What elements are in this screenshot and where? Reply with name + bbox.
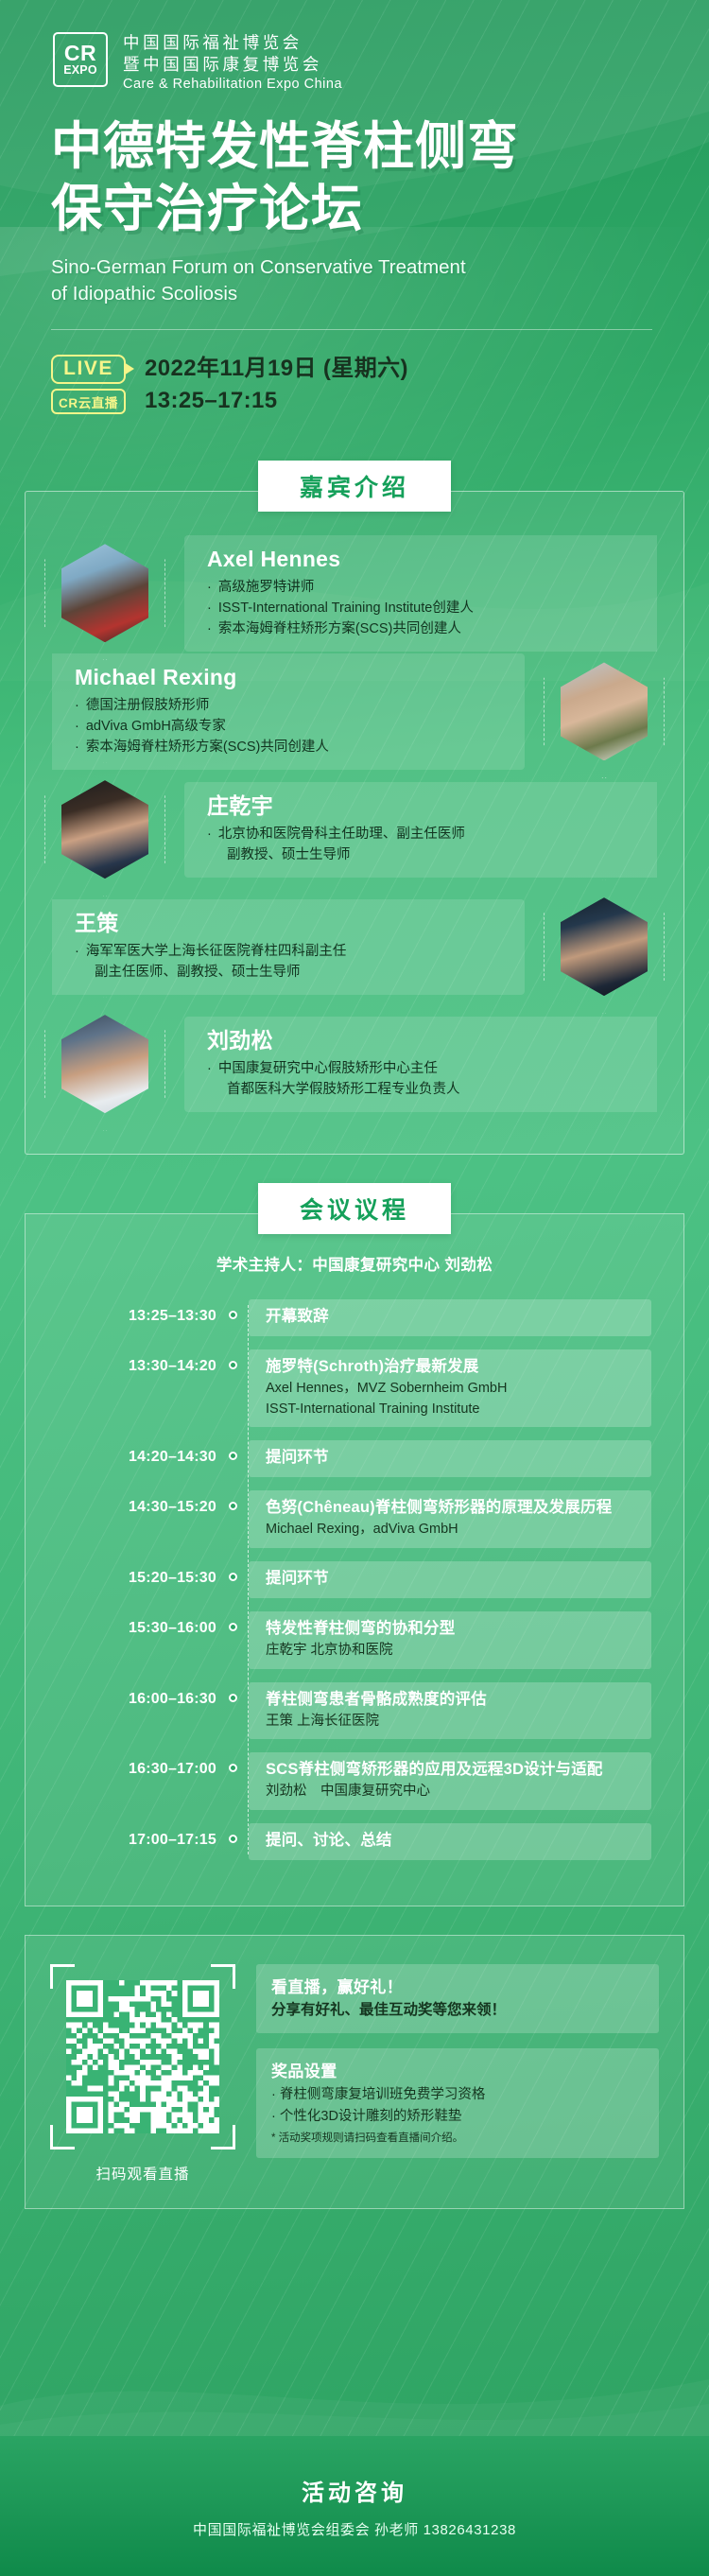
bullet-dot-icon: · [75, 737, 79, 757]
subtitle-line-2: of Idiopathic Scoliosis [51, 281, 580, 307]
bullet-dot-icon: · [207, 1058, 212, 1079]
agenda-session-speaker: Axel Hennes，MVZ Sobernheim GmbH [266, 1379, 638, 1400]
guest-photo-hex [26, 1015, 184, 1113]
guest-credential: ·adViva GmbH高级专家 [75, 716, 510, 737]
guest-info: Axel Hennes·高级施罗特讲师·ISST-International T… [184, 535, 657, 652]
agenda-session-title: 特发性脊柱侧弯的协和分型 [266, 1618, 638, 1641]
live-icon: LIVE [51, 355, 126, 384]
guest-credential: ·索本海姆脊柱矫形方案(SCS)共同创建人 [75, 737, 510, 757]
timeline-node-icon [216, 1682, 249, 1702]
agenda-time: 16:00–16:30 [58, 1682, 216, 1708]
agenda-session-speaker: 刘劲松 中国康复研究中心 [266, 1782, 638, 1802]
guest-credential: ·北京协和医院骨科主任助理、副主任医师 [207, 824, 642, 844]
timeline-node-icon [216, 1561, 249, 1581]
logo-cr-text: CR [64, 43, 96, 63]
qr-promo-panel: 扫码观看直播 看直播，赢好礼！ 分享有好礼、最佳互动奖等您来领！ 奖品设置 · … [25, 1935, 684, 2209]
bullet-dot-icon: · [75, 941, 79, 962]
agenda-session-title: 脊柱侧弯患者骨骼成熟度的评估 [266, 1689, 638, 1712]
live-badge: LIVE CR云直播 [51, 355, 126, 414]
guest-card: 刘劲松·中国康复研究中心假肢矫形中心主任首都医科大学假肢矫形工程专业负责人 [26, 1006, 683, 1122]
agenda-session-card: 脊柱侧弯患者骨骼成熟度的评估王策 上海长征医院 [249, 1682, 651, 1740]
footer-bar: 活动咨询 中国国际福祉博览会组委会 孙老师 13826431238 [0, 2436, 709, 2576]
poster-title-line-1: 中德特发性脊柱侧弯 [51, 116, 709, 179]
prize-item: · 个性化3D设计雕刻的矫形鞋垫 [271, 2106, 644, 2128]
prize-title: 奖品设置 [271, 2060, 644, 2084]
agenda-row: 15:20–15:30提问环节 [58, 1561, 683, 1598]
bullet-dot-icon: · [207, 598, 212, 618]
agenda-heading-ribbon: 会议议程 [0, 1183, 709, 1234]
agenda-rows: 13:25–13:30开幕致辞13:30–14:20施罗特(Schroth)治疗… [26, 1299, 683, 1860]
guest-credential-text: 索本海姆脊柱矫形方案(SCS)共同创建人 [218, 618, 461, 639]
bullet-dot-icon: · [271, 2087, 276, 2102]
agenda-session-title: 施罗特(Schroth)治疗最新发展 [266, 1356, 638, 1379]
timeline-node-icon [216, 1611, 249, 1631]
agenda-session-card: 特发性脊柱侧弯的协和分型庄乾宇 北京协和医院 [249, 1611, 651, 1669]
brand-line-2: 暨中国国际康复博览会 [123, 54, 342, 76]
agenda-host: 学术主持人：中国康复研究中心 刘劲松 [26, 1252, 683, 1275]
brand-header: CR EXPO 中国国际福祉博览会 暨中国国际康复博览会 Care & Reha… [0, 0, 709, 92]
prize-list: · 脊柱侧弯康复培训班免费学习资格· 个性化3D设计雕刻的矫形鞋垫 [271, 2084, 644, 2129]
hero-divider [51, 329, 652, 330]
agenda-time: 16:30–17:00 [58, 1752, 216, 1778]
prize-item: · 脊柱侧弯康复培训班免费学习资格 [271, 2084, 644, 2106]
hero-title-block: 中德特发性脊柱侧弯 保守治疗论坛 Sino-German Forum on Co… [0, 92, 709, 307]
guest-credential: ·ISST-International Training Institute创建… [207, 598, 642, 618]
timeline-node-icon [216, 1490, 249, 1510]
agenda-session-card: 提问、讨论、总结 [249, 1823, 651, 1860]
prize-item-text: 个性化3D设计雕刻的矫形鞋垫 [280, 2109, 462, 2124]
agenda-session-card: 施罗特(Schroth)治疗最新发展Axel Hennes，MVZ Sobern… [249, 1349, 651, 1427]
qr-code-icon[interactable] [66, 1980, 219, 2133]
guest-credential: ·索本海姆脊柱矫形方案(SCS)共同创建人 [207, 618, 642, 639]
guest-credential-text: 副主任医师、副教授、硕士生导师 [95, 962, 301, 983]
bullet-dot-icon: · [75, 716, 79, 737]
guest-card: Axel Hennes·高级施罗特讲师·ISST-International T… [26, 535, 683, 652]
agenda-session-card: 开幕致辞 [249, 1299, 651, 1336]
guest-name: Michael Rexing [75, 665, 510, 690]
brand-line-1: 中国国际福祉博览会 [123, 32, 342, 54]
guest-credential-text: 中国康复研究中心假肢矫形中心主任 [218, 1058, 438, 1079]
bullet-dot-icon: · [75, 695, 79, 716]
prize-item-text: 脊柱侧弯康复培训班免费学习资格 [280, 2087, 486, 2102]
promo-subtitle: 分享有好礼、最佳互动奖等您来领！ [271, 1999, 644, 2022]
agenda-session-speaker: Michael Rexing，adViva GmbH [266, 1520, 638, 1540]
subtitle-line-1: Sino-German Forum on Conservative Treatm… [51, 254, 580, 281]
guest-name: 庄乾宇 [207, 793, 642, 819]
agenda-time: 17:00–17:15 [58, 1823, 216, 1849]
agenda-session-title: 开幕致辞 [266, 1306, 638, 1329]
guest-info: Michael Rexing·德国注册假肢矫形师·adViva GmbH高级专家… [52, 653, 525, 770]
agenda-row: 13:25–13:30开幕致辞 [58, 1299, 683, 1336]
qr-caption: 扫码观看直播 [50, 2163, 235, 2184]
guest-credential-text: adViva GmbH高级专家 [86, 716, 226, 737]
guest-card: Michael Rexing·德国注册假肢矫形师·adViva GmbH高级专家… [26, 653, 683, 770]
timeline-node-icon [216, 1752, 249, 1772]
bullet-dot-icon: · [207, 618, 212, 639]
poster-subtitle: Sino-German Forum on Conservative Treatm… [51, 254, 580, 308]
qr-code-frame[interactable] [50, 1964, 235, 2150]
bullet-dot-icon: · [271, 2109, 276, 2124]
agenda-row: 16:30–17:00SCS脊柱侧弯矫形器的应用及远程3D设计与适配刘劲松 中国… [58, 1752, 683, 1810]
cr-expo-logo: CR EXPO [53, 32, 108, 87]
scan-corner-top-right-icon [211, 1964, 235, 1989]
event-date: 2022年11月19日 (星期六) [145, 353, 408, 385]
guest-credential-text: ISST-International Training Institute创建人 [218, 598, 474, 618]
logo-expo-text: EXPO [63, 63, 97, 77]
agenda-session-card: 色努(Chêneau)脊柱侧弯矫形器的原理及发展历程Michael Rexing… [249, 1490, 651, 1548]
guest-credential: ·德国注册假肢矫形师 [75, 695, 510, 716]
guest-photo-hex [525, 897, 683, 996]
guest-credential: ·海军军医大学上海长征医院脊柱四科副主任 [75, 941, 510, 962]
agenda-session-title: 色努(Chêneau)脊柱侧弯矫形器的原理及发展历程 [266, 1497, 638, 1520]
prize-note: * 活动奖项规则请扫码查看直播间介绍。 [271, 2131, 644, 2147]
agenda-session-card: SCS脊柱侧弯矫形器的应用及远程3D设计与适配刘劲松 中国康复研究中心 [249, 1752, 651, 1810]
guest-name: Axel Hennes [207, 547, 642, 572]
agenda-row: 13:30–14:20施罗特(Schroth)治疗最新发展Axel Hennes… [58, 1349, 683, 1427]
agenda-row: 15:30–16:00特发性脊柱侧弯的协和分型庄乾宇 北京协和医院 [58, 1611, 683, 1669]
scan-corner-bottom-right-icon [211, 2125, 235, 2150]
footer-wave [0, 2351, 709, 2436]
agenda-session-speaker: 王策 上海长征医院 [266, 1712, 638, 1732]
guest-name: 刘劲松 [207, 1028, 642, 1053]
agenda-row: 17:00–17:15提问、讨论、总结 [58, 1823, 683, 1860]
guest-info: 庄乾宇·北京协和医院骨科主任助理、副主任医师副教授、硕士生导师 [184, 782, 657, 878]
guest-card: 王策·海军军医大学上海长征医院脊柱四科副主任副主任医师、副教授、硕士生导师 [26, 889, 683, 1004]
guest-credential-text: 索本海姆脊柱矫形方案(SCS)共同创建人 [86, 737, 329, 757]
promo-card: 看直播，赢好礼！ 分享有好礼、最佳互动奖等您来领！ [256, 1964, 659, 2034]
agenda-heading-text: 会议议程 [258, 1183, 451, 1234]
agenda-session-speaker: ISST-International Training Institute [266, 1400, 638, 1420]
guest-credential-text: 德国注册假肢矫形师 [86, 695, 210, 716]
scan-corner-bottom-left-icon [50, 2125, 75, 2150]
agenda-session-title: 提问环节 [266, 1447, 638, 1470]
agenda-session-title: 提问、讨论、总结 [266, 1830, 638, 1853]
guest-credential-text: 首都医科大学假肢矫形工程专业负责人 [227, 1079, 460, 1100]
guest-credential-text: 高级施罗特讲师 [218, 577, 315, 598]
bullet-dot-icon: · [207, 824, 212, 844]
guest-credential: 首都医科大学假肢矫形工程专业负责人 [207, 1079, 642, 1100]
agenda-session-card: 提问环节 [249, 1561, 651, 1598]
guest-photo-hex [525, 662, 683, 760]
prize-card: 奖品设置 · 脊柱侧弯康复培训班免费学习资格· 个性化3D设计雕刻的矫形鞋垫 *… [256, 2048, 659, 2158]
guest-info: 刘劲松·中国康复研究中心假肢矫形中心主任首都医科大学假肢矫形工程专业负责人 [184, 1017, 657, 1112]
guest-credential-text: 海军军医大学上海长征医院脊柱四科副主任 [86, 941, 347, 962]
agenda-time: 14:30–15:20 [58, 1490, 216, 1516]
agenda-session-speaker: 庄乾宇 北京协和医院 [266, 1641, 638, 1662]
agenda-row: 16:00–16:30脊柱侧弯患者骨骼成熟度的评估王策 上海长征医院 [58, 1682, 683, 1740]
live-date-block: LIVE CR云直播 2022年11月19日 (星期六) 13:25–17:15 [51, 353, 709, 417]
guests-heading-text: 嘉宾介绍 [258, 461, 451, 512]
guest-credential: 副教授、硕士生导师 [207, 844, 642, 865]
poster-title-line-2: 保守治疗论坛 [51, 179, 709, 241]
guest-name: 王策 [75, 911, 510, 936]
bullet-dot-icon: · [207, 577, 212, 598]
agenda-time: 15:30–16:00 [58, 1611, 216, 1637]
event-time: 13:25–17:15 [145, 385, 408, 417]
qr-left-column: 扫码观看直播 [50, 1964, 235, 2184]
agenda-time: 13:25–13:30 [58, 1299, 216, 1325]
guest-credential-text: 北京协和医院骨科主任助理、副主任医师 [218, 824, 465, 844]
guest-card: 庄乾宇·北京协和医院骨科主任助理、副主任医师副教授、硕士生导师 [26, 772, 683, 887]
agenda-panel: 学术主持人：中国康复研究中心 刘劲松 13:25–13:30开幕致辞13:30–… [25, 1213, 684, 1906]
timeline-node-icon [216, 1440, 249, 1460]
agenda-session-card: 提问环节 [249, 1440, 651, 1477]
guest-credential-text: 副教授、硕士生导师 [227, 844, 351, 865]
poster-root: CR EXPO 中国国际福祉博览会 暨中国国际康复博览会 Care & Reha… [0, 0, 709, 2576]
guest-info: 王策·海军军医大学上海长征医院脊柱四科副主任副主任医师、副教授、硕士生导师 [52, 899, 525, 995]
guest-photo-hex [26, 780, 184, 879]
brand-name-block: 中国国际福祉博览会 暨中国国际康复博览会 Care & Rehabilitati… [123, 32, 342, 92]
timeline-node-icon [216, 1299, 249, 1319]
agenda-row: 14:20–14:30提问环节 [58, 1440, 683, 1477]
agenda-time: 13:30–14:20 [58, 1349, 216, 1375]
footer-title: 活动咨询 [302, 2474, 407, 2507]
guest-credential: ·中国康复研究中心假肢矫形中心主任 [207, 1058, 642, 1079]
qr-right-column: 看直播，赢好礼！ 分享有好礼、最佳互动奖等您来领！ 奖品设置 · 脊柱侧弯康复培… [256, 1964, 659, 2184]
scan-corner-top-left-icon [50, 1964, 75, 1989]
event-datetime: 2022年11月19日 (星期六) 13:25–17:15 [145, 353, 408, 417]
live-channel-label: CR云直播 [51, 389, 126, 414]
timeline-node-icon [216, 1349, 249, 1369]
agenda-time: 14:20–14:30 [58, 1440, 216, 1466]
guests-panel: Axel Hennes·高级施罗特讲师·ISST-International T… [25, 491, 684, 1155]
footer-contact: 中国国际福祉博览会组委会 孙老师 13826431238 [193, 2519, 516, 2539]
brand-line-en: Care & Rehabilitation Expo China [123, 77, 342, 92]
promo-title: 看直播，赢好礼！ [271, 1976, 644, 2000]
agenda-session-title: SCS脊柱侧弯矫形器的应用及远程3D设计与适配 [266, 1759, 638, 1782]
timeline-node-icon [216, 1823, 249, 1843]
agenda-row: 14:30–15:20色努(Chêneau)脊柱侧弯矫形器的原理及发展历程Mic… [58, 1490, 683, 1548]
guest-credential: ·高级施罗特讲师 [207, 577, 642, 598]
agenda-session-title: 提问环节 [266, 1568, 638, 1591]
guest-credential: 副主任医师、副教授、硕士生导师 [75, 962, 510, 983]
agenda-time: 15:20–15:30 [58, 1561, 216, 1587]
guests-heading-ribbon: 嘉宾介绍 [0, 461, 709, 512]
guest-photo-hex [26, 544, 184, 642]
